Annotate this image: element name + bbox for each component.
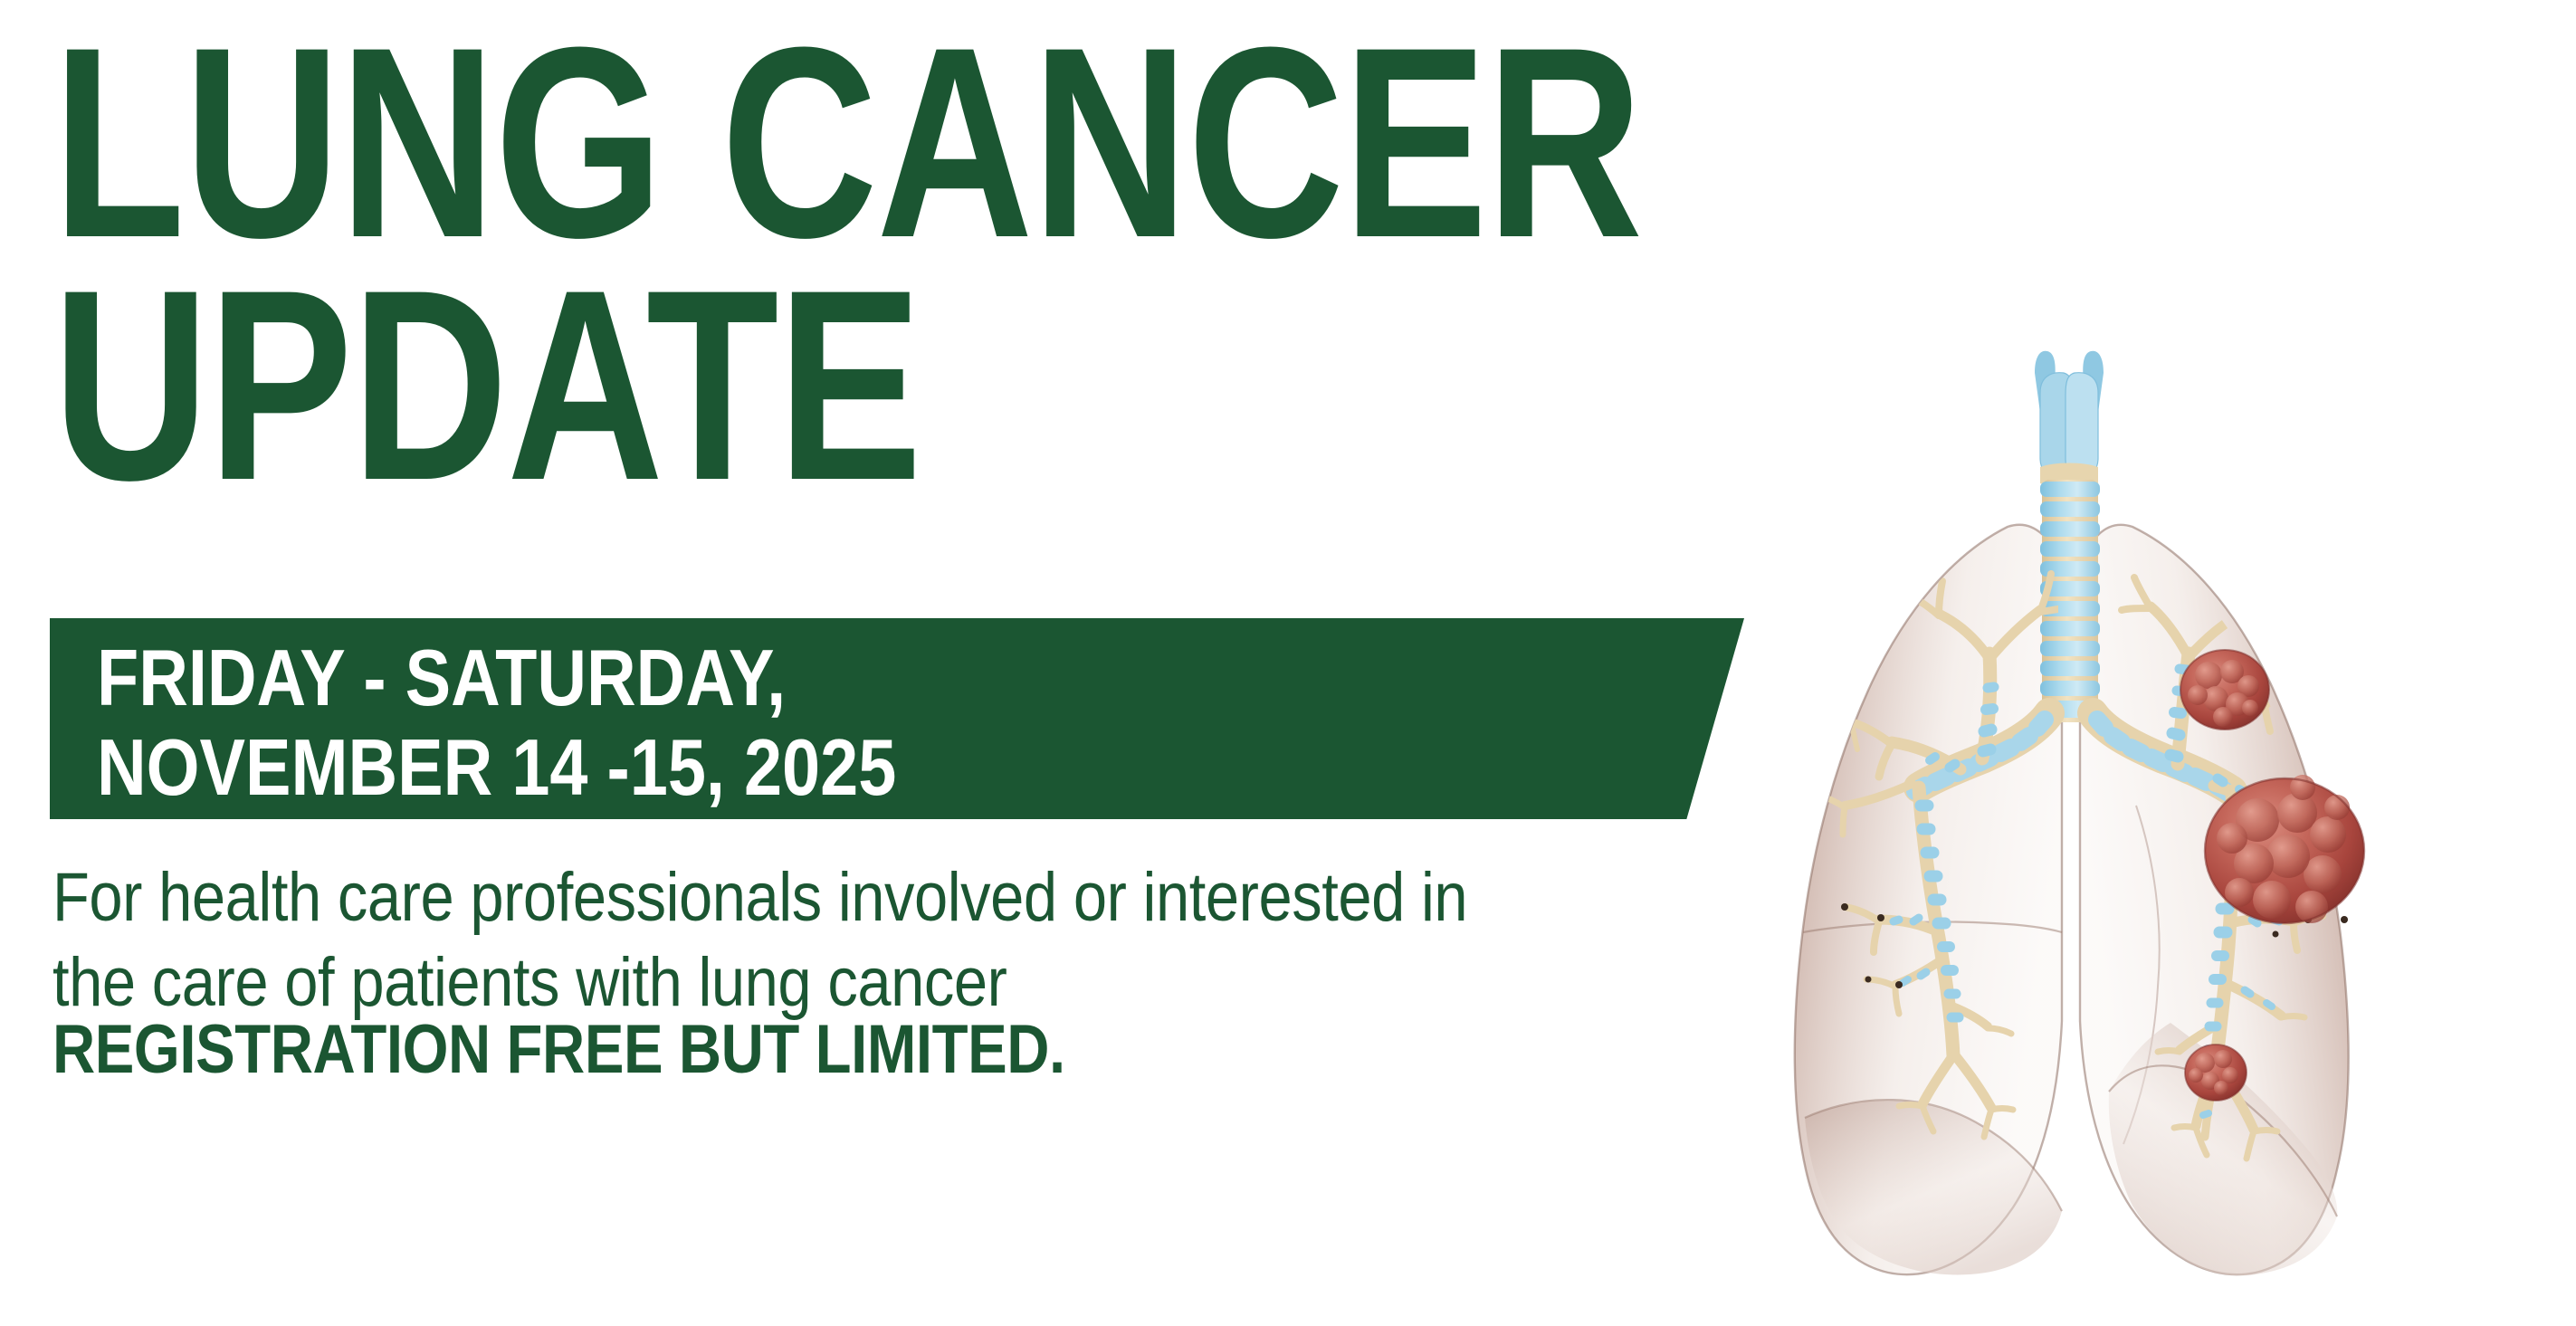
audience-subtitle: For health care professionals involved o… xyxy=(52,855,1772,1026)
tumor-upper xyxy=(2180,650,2269,730)
text-column: LUNG CANCER UPDATE FRIDAY - SATURDAY, NO… xyxy=(0,0,1774,1326)
page-title: LUNG CANCER UPDATE xyxy=(52,9,1772,518)
date-line-weekdays: FRIDAY - SATURDAY, xyxy=(97,634,1420,723)
larynx-right-plate xyxy=(2066,373,2098,476)
date-banner: FRIDAY - SATURDAY, NOVEMBER 14 -15, 2025 xyxy=(50,618,1744,819)
trachea xyxy=(2040,480,2102,722)
lung-illustration-svg xyxy=(1674,299,2576,1303)
larynx xyxy=(2035,351,2104,488)
registration-note-text: REGISTRATION FREE BUT LIMITED. xyxy=(52,1012,1531,1088)
lung-cancer-update-poster: LUNG CANCER UPDATE FRIDAY - SATURDAY, NO… xyxy=(0,0,2576,1326)
title-line-2: UPDATE xyxy=(52,252,1428,518)
lungs-with-tumors-illustration xyxy=(1674,299,2576,1303)
date-line-dates: NOVEMBER 14 -15, 2025 xyxy=(97,723,1420,813)
registration-note: REGISTRATION FREE BUT LIMITED. xyxy=(52,1012,1772,1088)
date-banner-text: FRIDAY - SATURDAY, NOVEMBER 14 -15, 2025 xyxy=(97,634,1636,812)
audience-subtitle-line-1: For health care professionals involved o… xyxy=(52,855,1566,940)
tumor-lower xyxy=(2185,1045,2247,1101)
